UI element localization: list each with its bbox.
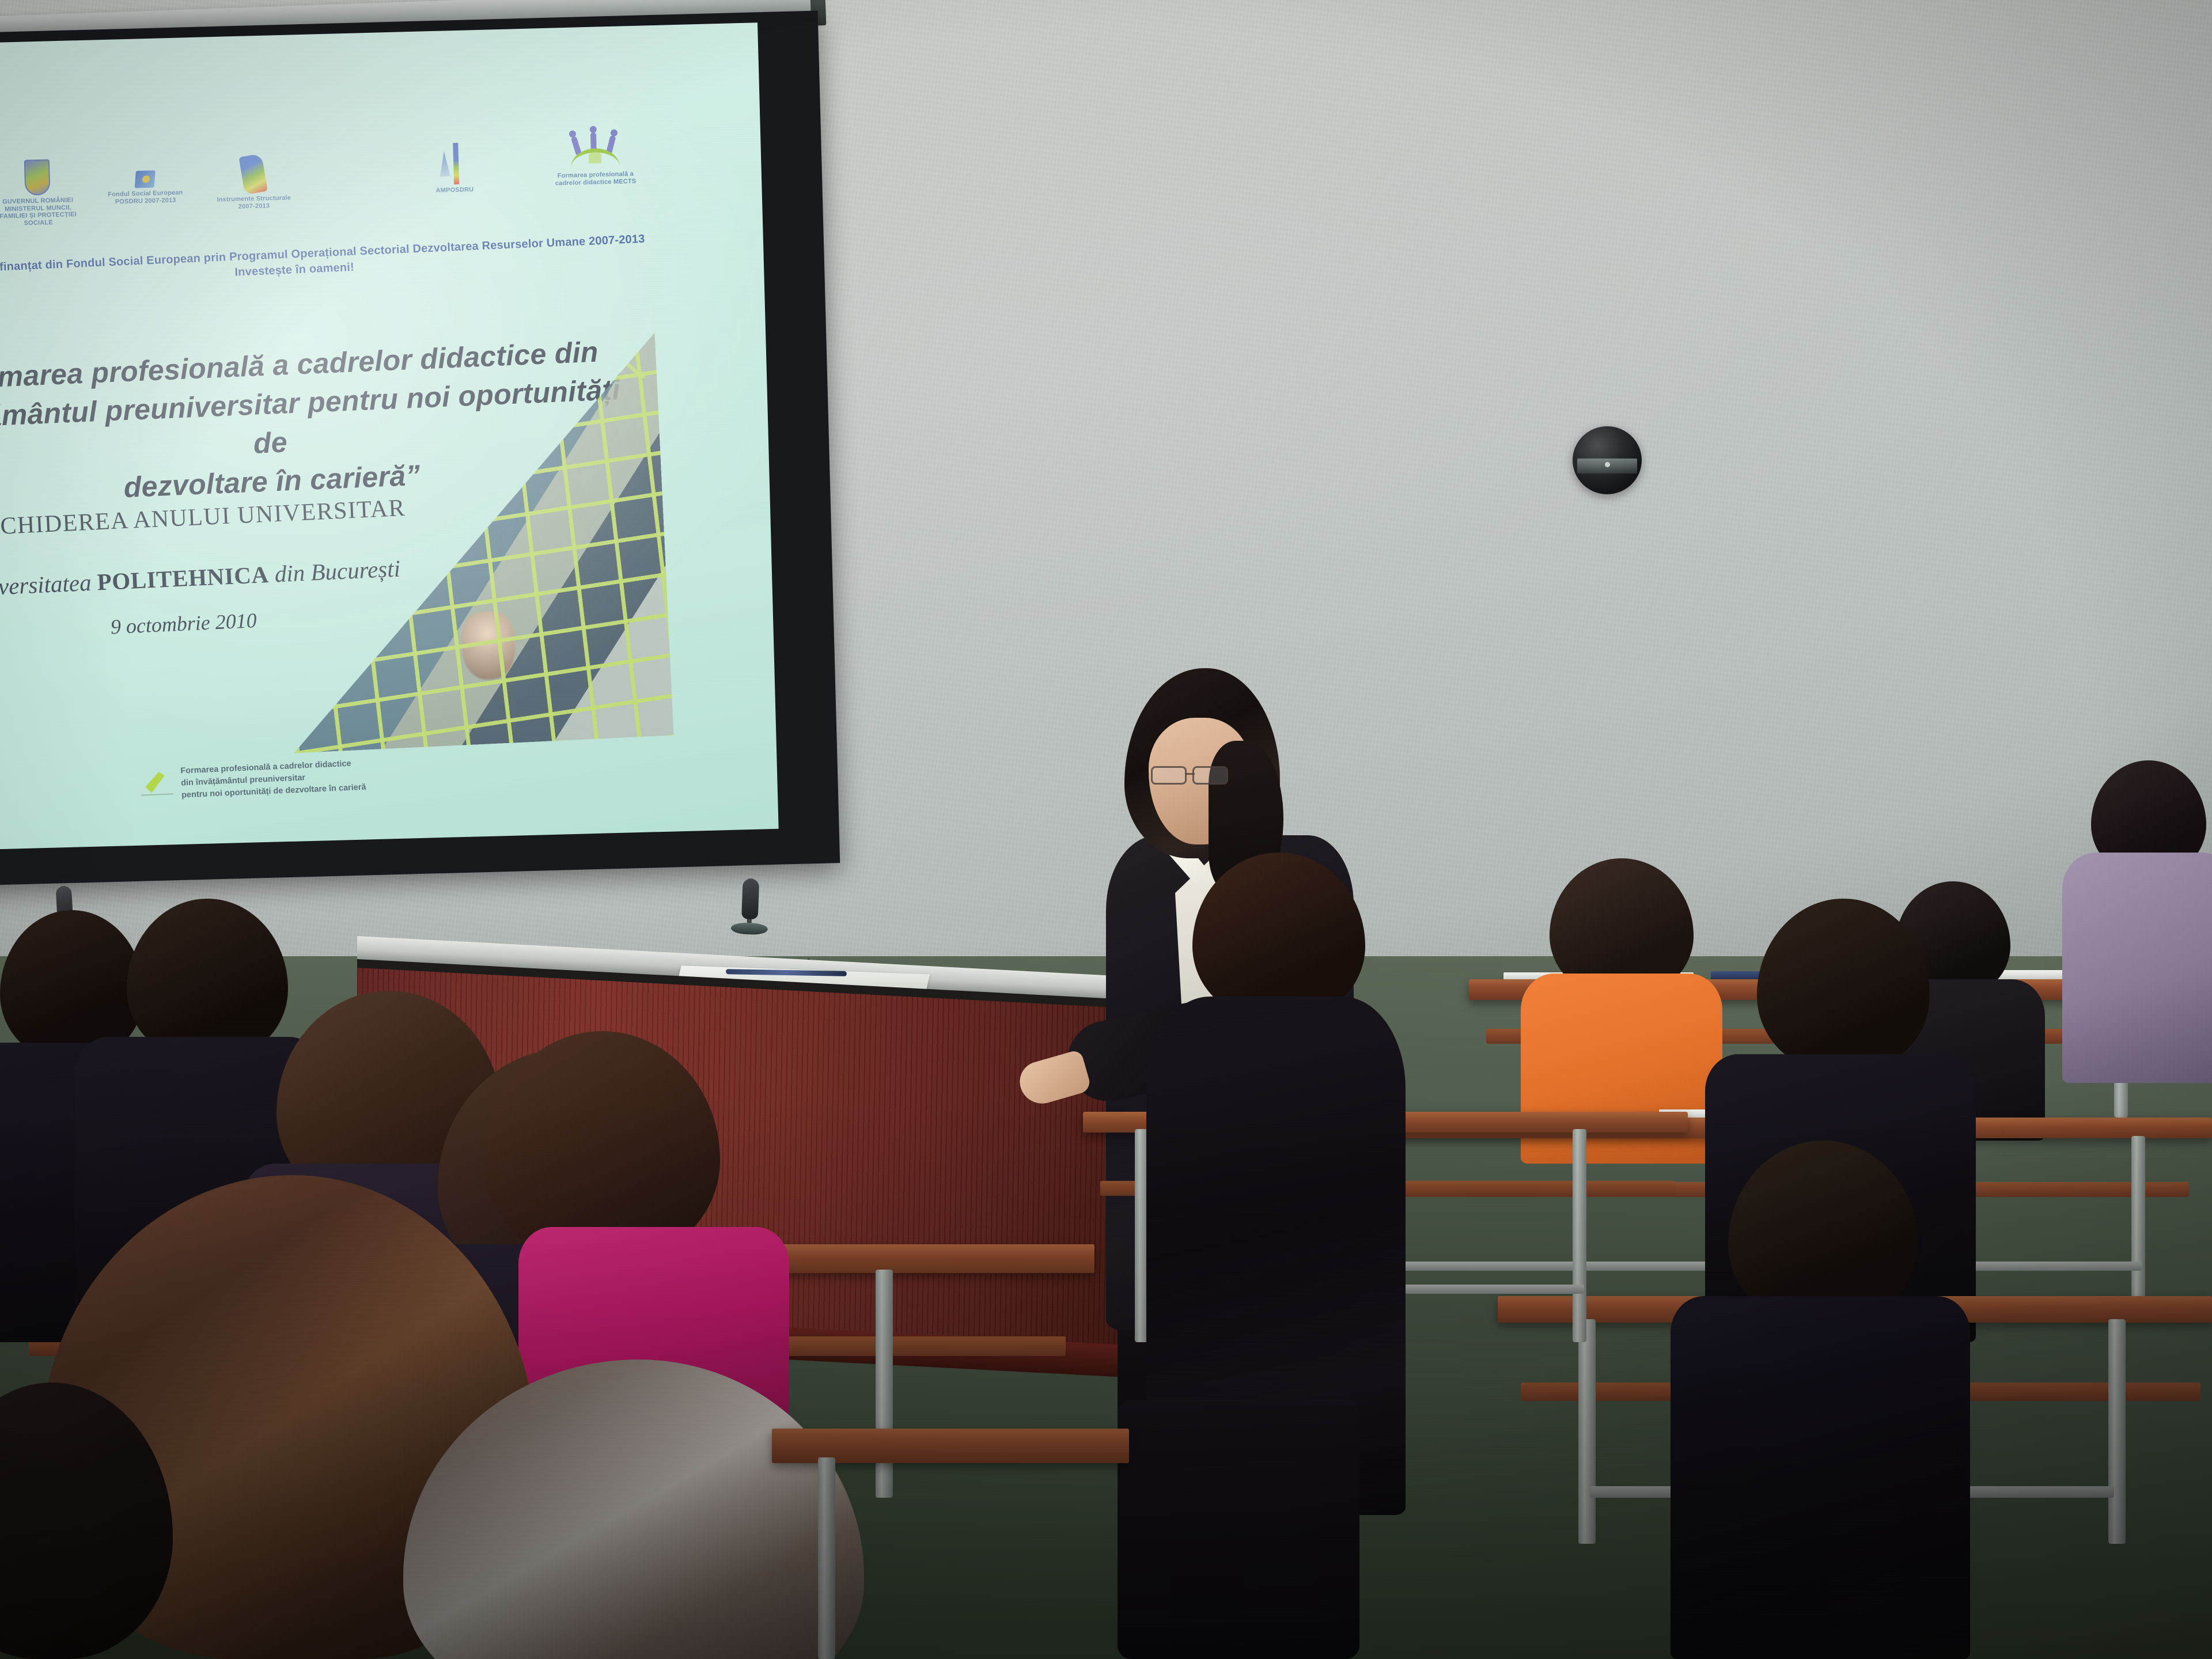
- structural-instruments-icon: [238, 153, 267, 195]
- instrumente-structurale-logo: Instrumente Structurale 2007-2013: [210, 154, 297, 211]
- microphone-head: [741, 878, 759, 919]
- audience-coat-skirt: [1118, 1400, 1359, 1659]
- logo-caption-0: GUVERNUL ROMÂNIEI MINISTERUL MUNCII, FAM…: [0, 196, 79, 228]
- presenter-glasses: [1151, 766, 1243, 786]
- slide-funding-text: Proiect cofinanțat din Fondul Social Eur…: [0, 229, 703, 296]
- amposdru-logo: AMPOSDRU: [407, 142, 501, 195]
- european-union-logo: Fondul Social European POSDRU 2007-2013: [101, 169, 189, 206]
- bench-row-foreground: [772, 1429, 1129, 1659]
- audience-torso: [2062, 853, 2212, 1083]
- project-swoosh-icon: [140, 770, 173, 799]
- clock-center-dot: [1605, 462, 1610, 467]
- romanian-coat-of-arms-logo: GUVERNUL ROMÂNIEI MINISTERUL MUNCII, FAM…: [0, 158, 79, 228]
- institution-name: Universitatea POLITEHNICA din București: [0, 550, 505, 607]
- institution-prefix: Universitatea: [0, 569, 98, 601]
- bench-leg: [2131, 1136, 2145, 1309]
- logo-caption-3: AMPOSDRU: [408, 185, 501, 195]
- logo-caption-1: Fondul Social European POSDRU 2007-2013: [102, 189, 189, 206]
- bench-leg: [1573, 1129, 1586, 1342]
- desk-microphone-right: [741, 878, 770, 935]
- logo-caption-2: Instrumente Structurale 2007-2013: [211, 194, 298, 211]
- presentation-slide: GUVERNUL ROMÂNIEI MINISTERUL MUNCII, FAM…: [0, 22, 779, 850]
- slide-logo-row: GUVERNUL ROMÂNIEI MINISTERUL MUNCII, FAM…: [0, 137, 668, 237]
- bench-leg: [2108, 1319, 2126, 1544]
- shield-icon: [24, 159, 51, 195]
- bench-leg: [818, 1457, 835, 1659]
- project-partner-logo: Formarea profesională a cadrelor didacti…: [546, 126, 645, 187]
- projection-screen-frame: GUVERNUL ROMÂNIEI MINISTERUL MUNCII, FAM…: [0, 10, 840, 885]
- logo-caption-4: Formarea profesională a cadrelor didacti…: [547, 170, 645, 187]
- people-arc-icon: [570, 127, 620, 170]
- audience-torso: [1671, 1296, 1970, 1659]
- wall-clock: [1573, 426, 1642, 494]
- eu-flag-icon: [135, 171, 156, 188]
- institution-suffix: din București: [268, 555, 401, 587]
- projection-screen-surface: GUVERNUL ROMÂNIEI MINISTERUL MUNCII, FAM…: [0, 22, 779, 850]
- bench-leg: [1578, 1319, 1596, 1544]
- amposdru-bar-icon: [438, 142, 470, 184]
- footer-text: Formarea profesională a cadrelor didacti…: [180, 757, 366, 802]
- lecture-hall-photo: GUVERNUL ROMÂNIEI MINISTERUL MUNCII, FAM…: [0, 0, 2212, 1659]
- institution-bold: POLITEHNICA: [97, 561, 270, 595]
- slide-footer: Formarea profesională a cadrelor didacti…: [140, 750, 533, 804]
